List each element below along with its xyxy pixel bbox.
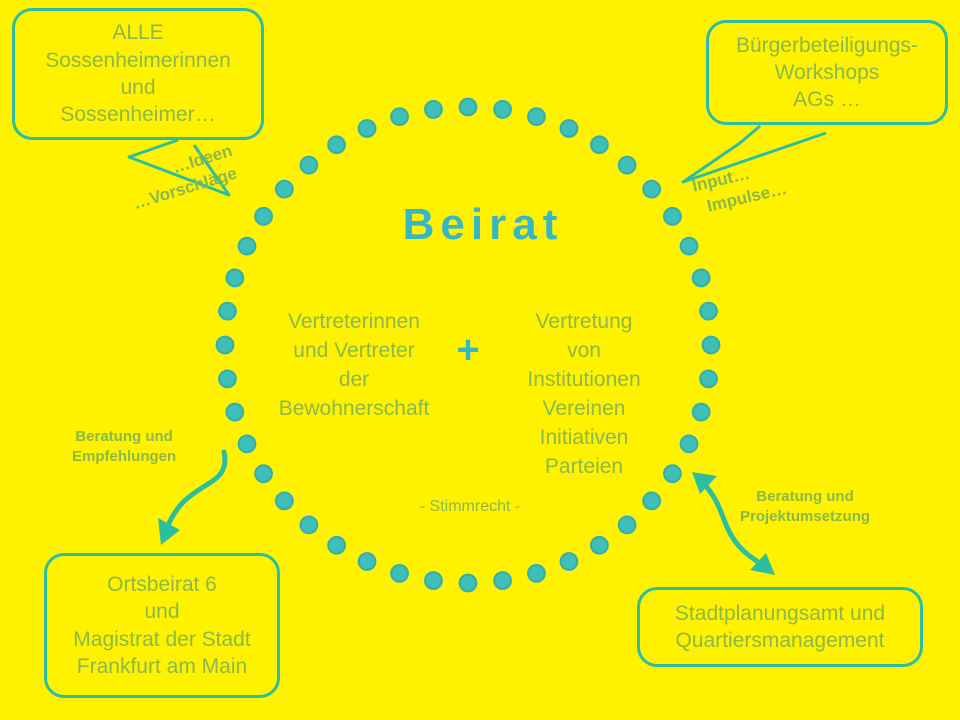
ring-dot: [681, 436, 698, 453]
arrow-head-up-projektumsetzung: [692, 472, 717, 494]
box-stadtplanung-line-1: Stadtplanungsamt und: [640, 600, 920, 627]
flow-label-beratung-empfehlungen-line-1: Beratung und: [72, 427, 176, 447]
box-stadtplanung-line-2: Quartiersmanagement: [640, 627, 920, 654]
ring-dot: [301, 517, 318, 534]
ring-dot: [619, 517, 636, 534]
flow-label-beratung-empfehlungen: Beratung und Empfehlungen: [72, 427, 176, 468]
callout-citizens-line-3: und: [15, 74, 261, 101]
ring-dot: [391, 565, 408, 582]
voting-rights-note: - Stimmrecht -: [330, 498, 610, 516]
callout-citizens-line-4: Sossenheimer…: [15, 101, 261, 128]
plus-icon: +: [440, 330, 496, 370]
ring-dot: [528, 108, 545, 125]
callout-workshops-line-3: AGs …: [709, 86, 945, 113]
callout-workshops-line-1: Bürgerbeteiligungs-: [709, 32, 945, 59]
center-right-line-5: Initiativen: [498, 424, 670, 453]
ring-dot: [591, 537, 608, 554]
ring-dot: [591, 136, 608, 153]
ring-dot: [239, 436, 256, 453]
box-ortsbeirat-line-4: Frankfurt am Main: [47, 653, 277, 680]
flow-label-beratung-projekt-line-1: Beratung und: [740, 487, 870, 507]
center-right-line-2: von: [498, 337, 670, 366]
center-left-line-3: der: [268, 366, 440, 395]
center-left-line-4: Bewohnerschaft: [268, 395, 440, 424]
ring-dot: [494, 572, 511, 589]
ring-dot: [359, 553, 376, 570]
ring-dot: [328, 537, 345, 554]
ring-dot: [227, 270, 244, 287]
ring-dot: [276, 493, 293, 510]
ring-dot: [425, 572, 442, 589]
box-stadtplanungsamt-quartiersmanagement: Stadtplanungsamt und Quartiersmanagement: [637, 587, 923, 667]
ring-dot: [528, 565, 545, 582]
ring-dot: [276, 181, 293, 198]
center-right-line-6: Parteien: [498, 453, 670, 482]
flow-label-beratung-projektumsetzung: Beratung und Projektumsetzung: [740, 487, 870, 528]
center-left-column: Vertreterinnen und Vertreter der Bewohne…: [268, 308, 440, 424]
arrow-head-down-projektumsetzung: [750, 553, 775, 575]
ring-dot: [217, 337, 234, 354]
center-right-column: Vertretung von Institutionen Vereinen In…: [498, 308, 670, 482]
callout-citizens-line-2: Sossenheimerinnen: [15, 47, 261, 74]
ring-dot: [219, 371, 236, 388]
ring-dot: [703, 337, 720, 354]
ring-dot: [700, 371, 717, 388]
callout-citizens-line-1: ALLE: [15, 19, 261, 46]
ring-dot: [460, 575, 477, 592]
box-ortsbeirat-line-2: und: [47, 598, 277, 625]
callout-all-citizens: ALLE Sossenheimerinnen und Sossenheimer…: [12, 8, 264, 140]
ring-dot: [219, 303, 236, 320]
ring-dot: [643, 493, 660, 510]
ring-dot: [227, 404, 244, 421]
callout-participation-workshops: Bürgerbeteiligungs- Workshops AGs …: [706, 20, 948, 125]
ring-dot: [460, 99, 477, 116]
ring-dot: [700, 303, 717, 320]
callout-workshops-line-2: Workshops: [709, 59, 945, 86]
box-ortsbeirat-magistrat: Ortsbeirat 6 und Magistrat der Stadt Fra…: [44, 553, 280, 698]
ring-dot: [255, 465, 272, 482]
ring-dot: [619, 157, 636, 174]
flow-label-beratung-empfehlungen-line-2: Empfehlungen: [72, 447, 176, 467]
ring-dot: [425, 101, 442, 118]
box-ortsbeirat-line-3: Magistrat der Stadt: [47, 626, 277, 653]
arrow-head-beratung-empfehlungen: [158, 518, 180, 545]
center-right-line-1: Vertretung: [498, 308, 670, 337]
center-left-line-1: Vertreterinnen: [268, 308, 440, 337]
ring-dot: [561, 120, 578, 137]
ring-dot: [643, 181, 660, 198]
diagram-canvas: ALLE Sossenheimerinnen und Sossenheimer……: [0, 0, 960, 720]
ring-dot: [359, 120, 376, 137]
ring-dot: [693, 404, 710, 421]
center-title-text: Beirat: [397, 200, 564, 249]
ring-dot: [494, 101, 511, 118]
center-right-line-3: Institutionen: [498, 366, 670, 395]
ring-dot: [693, 270, 710, 287]
ring-dot: [301, 157, 318, 174]
ring-dot: [328, 136, 345, 153]
center-left-line-2: und Vertreter: [268, 337, 440, 366]
ring-dot: [391, 108, 408, 125]
flow-label-beratung-projekt-line-2: Projektumsetzung: [740, 507, 870, 527]
ring-dot: [561, 553, 578, 570]
center-right-line-4: Vereinen: [498, 395, 670, 424]
box-ortsbeirat-line-1: Ortsbeirat 6: [47, 571, 277, 598]
